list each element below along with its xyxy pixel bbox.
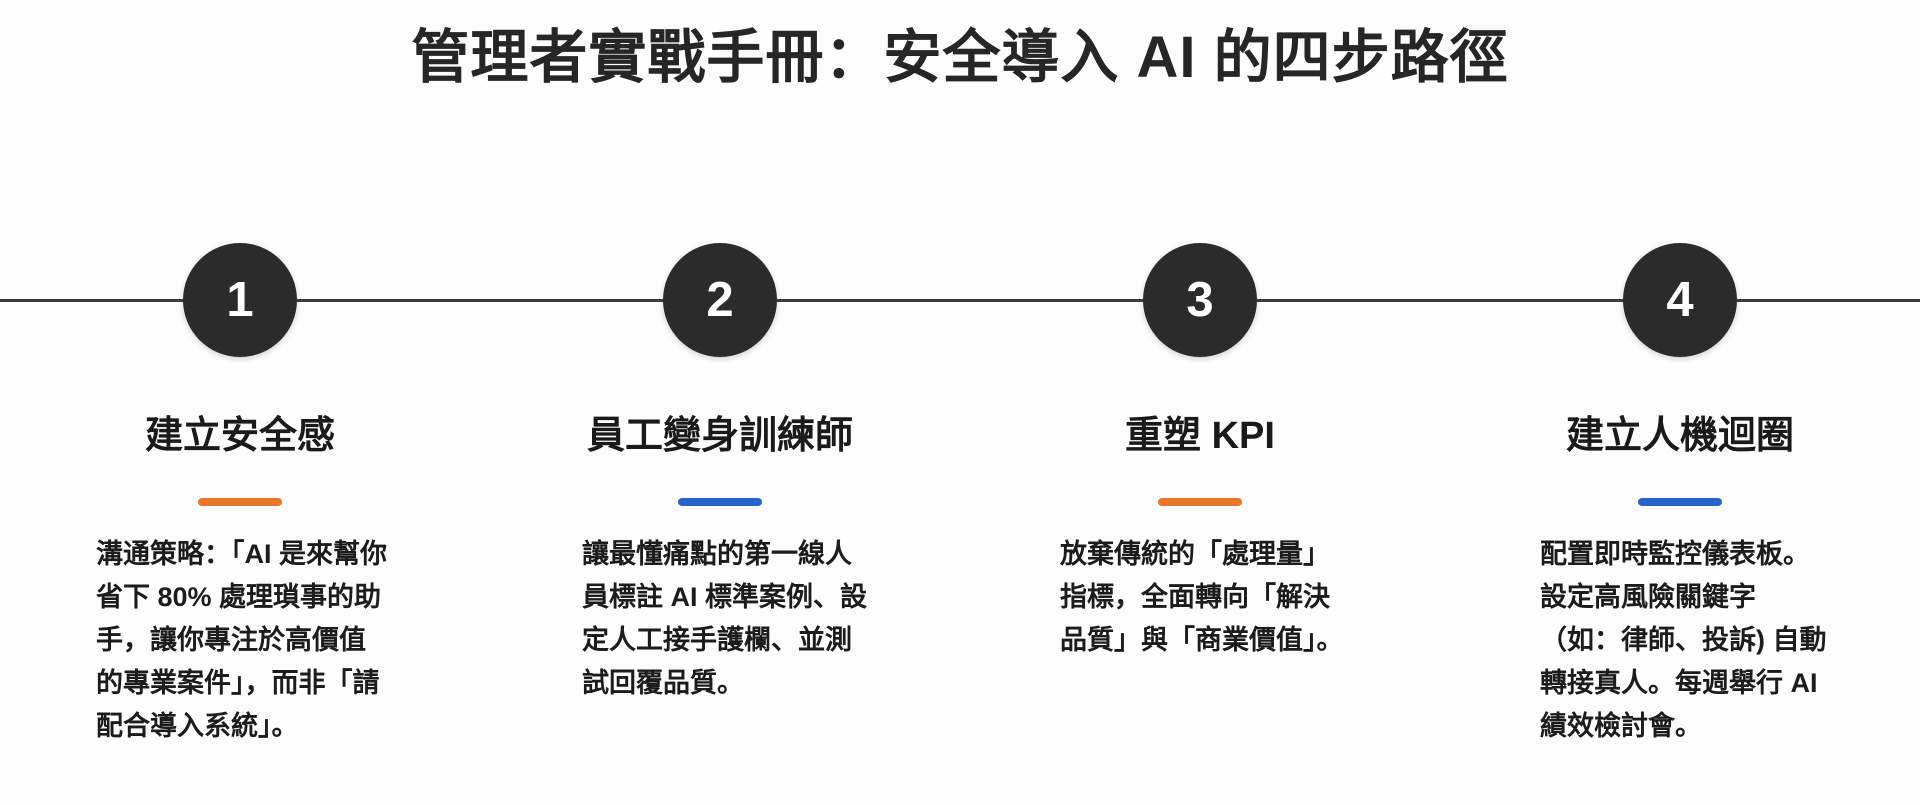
- step-heading: 重塑 KPI: [960, 412, 1440, 460]
- step-number-circle: 2: [663, 243, 777, 357]
- step-number-label: 1: [226, 276, 253, 325]
- step-accent-bar: [678, 498, 762, 506]
- step-description: 放棄傳統的「處理量」指標，全面轉向「解決品質」與「商業價值」。: [1060, 533, 1348, 662]
- step-number-circle: 4: [1623, 243, 1737, 357]
- step-accent-bar: [1158, 498, 1242, 506]
- step-heading: 建立安全感: [0, 412, 480, 460]
- step-number-circle: 3: [1143, 243, 1257, 357]
- step-heading: 建立人機迴圈: [1440, 412, 1920, 460]
- timeline-step: 2 員工變身訓練師 讓最懂痛點的第一線人員標註 AI 標準案例、設定人工接手護欄…: [480, 0, 960, 805]
- step-accent-bar: [198, 498, 282, 506]
- step-number-label: 3: [1186, 276, 1213, 325]
- timeline-step: 1 建立安全感 溝通策略：「AI 是來幫你省下 80% 處理瑣事的助手，讓你專注…: [0, 0, 480, 805]
- timeline-steps: 1 建立安全感 溝通策略：「AI 是來幫你省下 80% 處理瑣事的助手，讓你專注…: [0, 0, 1920, 805]
- step-description: 讓最懂痛點的第一線人員標註 AI 標準案例、設定人工接手護欄、並測試回覆品質。: [582, 533, 870, 705]
- step-number-label: 4: [1666, 276, 1693, 325]
- timeline-step: 3 重塑 KPI 放棄傳統的「處理量」指標，全面轉向「解決品質」與「商業價值」。: [960, 0, 1440, 805]
- step-description: 配置即時監控儀表板。設定高風險關鍵字（如：律師、投訴) 自動轉接真人。每週舉行 …: [1540, 533, 1832, 748]
- step-description: 溝通策略：「AI 是來幫你省下 80% 處理瑣事的助手，讓你專注於高價值的專業案…: [96, 533, 388, 748]
- step-accent-bar: [1638, 498, 1722, 506]
- step-heading: 員工變身訓練師: [480, 412, 960, 460]
- step-number-circle: 1: [183, 243, 297, 357]
- infographic-page: 管理者實戰手冊：安全導入 AI 的四步路徑 1 建立安全感 溝通策略：「AI 是…: [0, 0, 1920, 805]
- timeline-step: 4 建立人機迴圈 配置即時監控儀表板。設定高風險關鍵字（如：律師、投訴) 自動轉…: [1440, 0, 1920, 805]
- step-number-label: 2: [706, 276, 733, 325]
